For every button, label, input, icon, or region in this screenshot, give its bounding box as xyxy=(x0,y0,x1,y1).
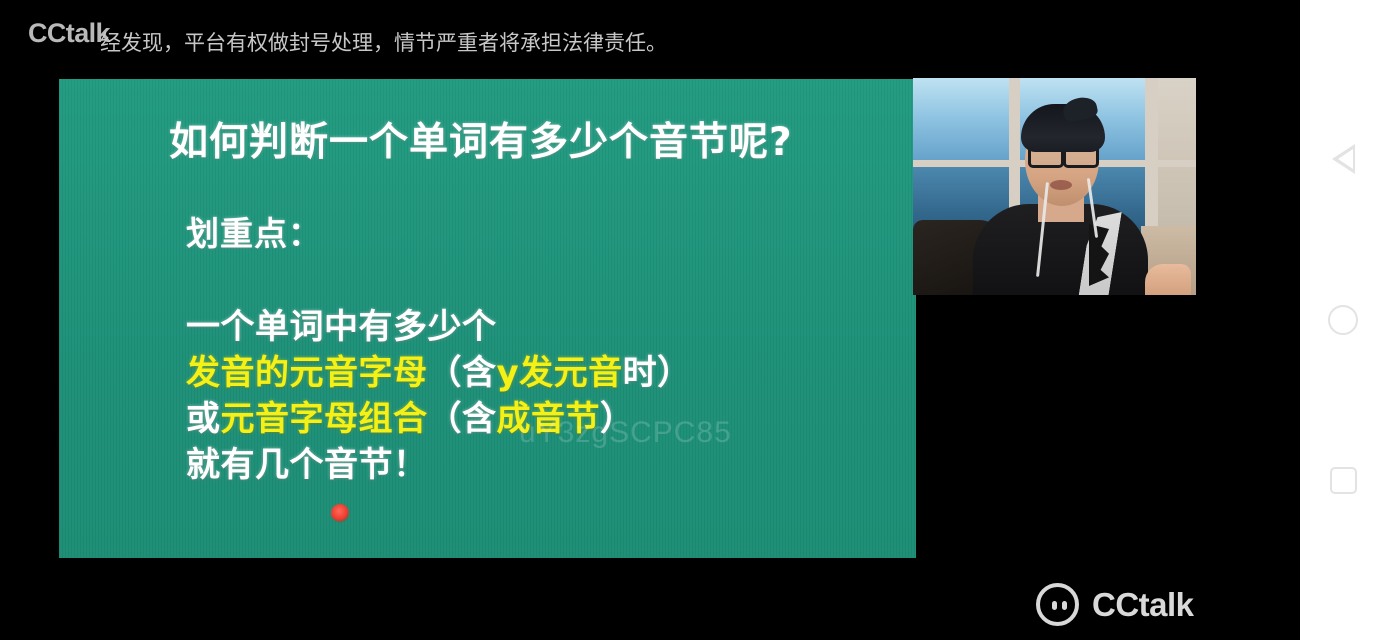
slide-body-line-4: 就有几个音节！ xyxy=(186,437,428,486)
smiley-eye-left-icon xyxy=(1052,601,1057,610)
laser-pointer-dot xyxy=(331,504,349,522)
slide-body-segment: 就有几个音节！ xyxy=(186,445,428,485)
slide-body-segment: （含 xyxy=(428,353,497,393)
recents-square-icon xyxy=(1330,467,1357,494)
notice-marquee-text: 经发现，平台有权做封号处理，情节严重者将承担法律责任。 xyxy=(100,26,667,60)
smiley-eye-right-icon xyxy=(1062,601,1067,610)
back-triangle-icon xyxy=(1332,144,1355,174)
nav-recents-button[interactable] xyxy=(1300,437,1386,523)
slide-body-segment: 或 xyxy=(186,399,221,439)
slide-title: 如何判断一个单词有多少个音节呢? xyxy=(169,111,793,167)
webcam-person-mouth xyxy=(1050,180,1072,190)
slide-body-segment: 一个单词中有多少个 xyxy=(186,307,497,347)
cctalk-wordmark: CCtalk xyxy=(1092,586,1194,624)
cctalk-watermark-bottom: CCtalk xyxy=(1036,583,1194,626)
live-class-player[interactable]: CCtalk 经发现，平台有权做封号处理，情节严重者将承担法律责任。 如何判断一… xyxy=(0,0,1300,640)
phone-screen: CCtalk 经发现，平台有权做封号处理，情节严重者将承担法律责任。 如何判断一… xyxy=(0,0,1386,640)
slide-body-segment: y发元音 xyxy=(497,353,623,393)
webcam-shirt-print-detail xyxy=(1089,224,1109,286)
slide-body-segment: 时） xyxy=(623,353,692,393)
shared-slide[interactable]: 如何判断一个单词有多少个音节呢? 划重点： 一个单词中有多少个 发音的元音字母（… xyxy=(59,79,916,558)
slide-body-segment: （含 xyxy=(428,399,497,439)
slide-body-segment: 元音字母组合 xyxy=(221,399,428,439)
android-navigation-bar xyxy=(1300,0,1386,640)
slide-watermark: uY3zgSCPC85 xyxy=(519,416,732,450)
webcam-person-hand xyxy=(1145,264,1191,295)
instructor-webcam-video[interactable] xyxy=(913,78,1196,295)
nav-home-button[interactable] xyxy=(1300,277,1386,363)
player-top-bar: CCtalk 经发现，平台有权做封号处理，情节严重者将承担法律责任。 xyxy=(0,0,1300,68)
slide-body-line-2: 发音的元音字母（含y发元音时） xyxy=(186,345,692,394)
home-circle-icon xyxy=(1328,305,1358,335)
cctalk-smiley-face-icon xyxy=(1036,583,1079,626)
slide-subtitle: 划重点： xyxy=(186,207,322,255)
notice-marquee: 经发现，平台有权做封号处理，情节严重者将承担法律责任。 xyxy=(100,26,1290,60)
nav-back-button[interactable] xyxy=(1300,116,1386,202)
slide-body-line-1: 一个单词中有多少个 xyxy=(186,299,497,348)
cctalk-logo-top: CCtalk xyxy=(28,18,110,49)
slide-body-segment: 发音的元音字母 xyxy=(186,353,428,393)
